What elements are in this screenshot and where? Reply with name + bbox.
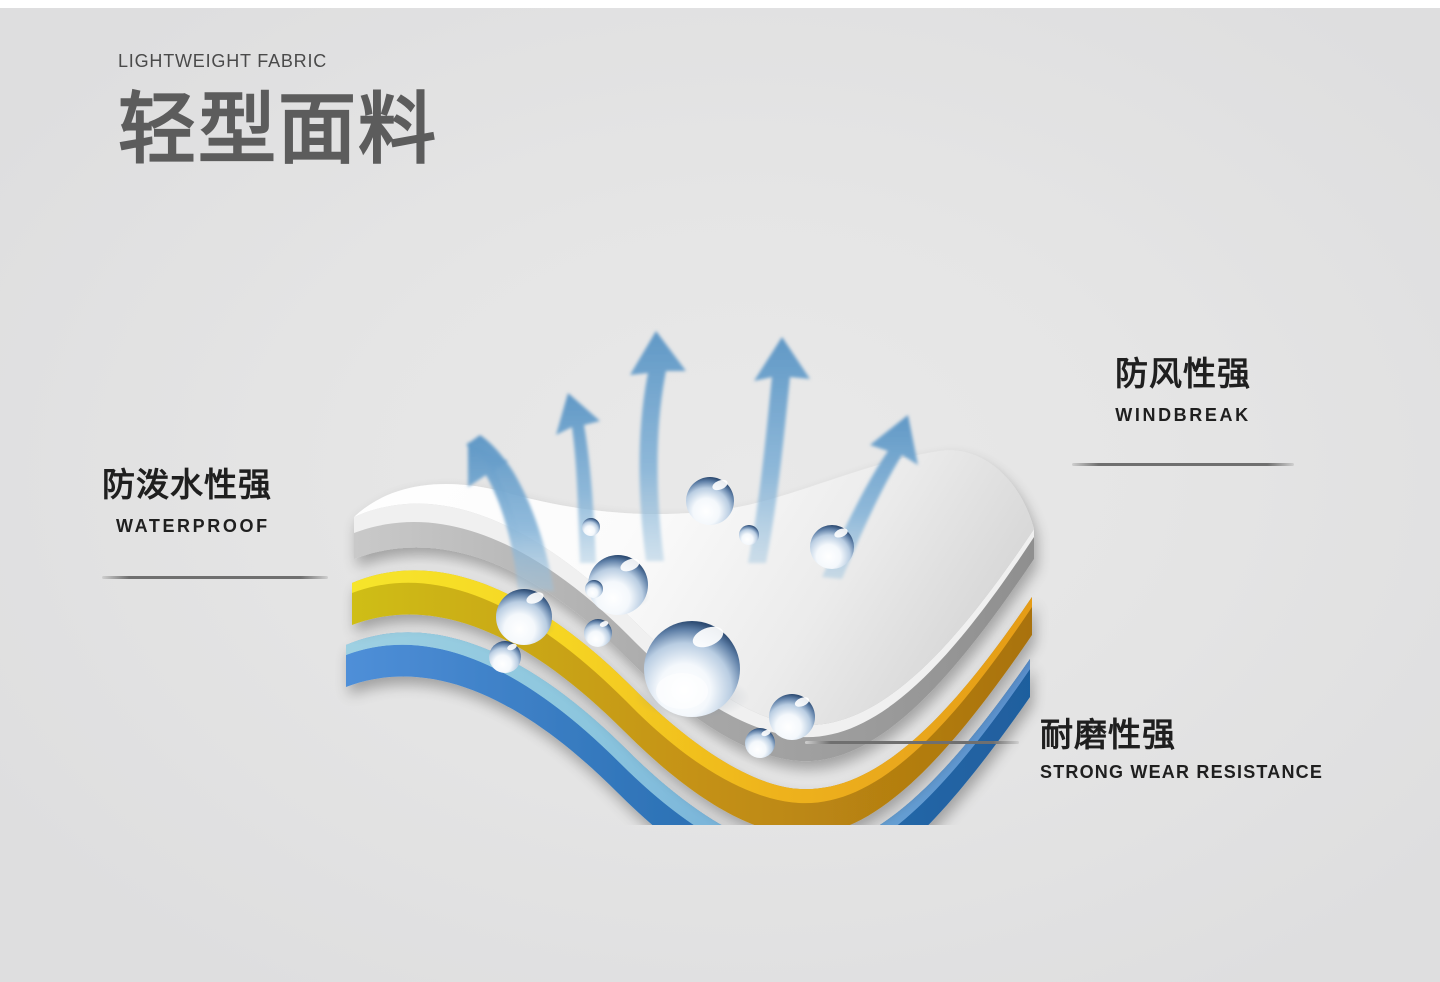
droplet-small-2: [584, 619, 612, 647]
droplet-medium-4: [810, 525, 854, 569]
callout-windbreak-rule: [1072, 463, 1294, 466]
droplet-medium-2: [496, 589, 552, 645]
eyebrow-text: LIGHTWEIGHT FABRIC: [118, 52, 438, 70]
callout-wear-rule: [805, 741, 1019, 744]
callout-wear-en: STRONG WEAR RESISTANCE: [1040, 762, 1323, 784]
droplet-tiny-2: [585, 580, 603, 598]
callout-waterproof-rule: [102, 576, 328, 579]
droplet-small-3: [745, 728, 775, 758]
callout-waterproof-cn: 防泼水性强: [102, 466, 328, 504]
page-title: 轻型面料: [118, 90, 438, 168]
droplet-large: [644, 621, 740, 717]
callout-waterproof-en: WATERPROOF: [116, 516, 328, 538]
callout-windbreak-cn: 防风性强: [1072, 355, 1294, 393]
callout-waterproof: 防泼水性强 WATERPROOF: [102, 466, 328, 579]
poster-root: LIGHTWEIGHT FABRIC 轻型面料: [0, 0, 1440, 982]
droplet-tiny-1: [582, 518, 600, 536]
callout-wear-cn: 耐磨性强: [1040, 716, 1323, 754]
droplet-small-1: [489, 641, 521, 673]
callout-wear-resistance: 耐磨性强 STRONG WEAR RESISTANCE: [805, 716, 1323, 784]
heading-block: LIGHTWEIGHT FABRIC 轻型面料: [118, 52, 438, 168]
droplet-medium-3: [686, 477, 734, 525]
callout-windbreak: 防风性强 WINDBREAK: [1072, 355, 1294, 466]
droplet-tiny-3: [739, 525, 759, 545]
callout-wear-text: 耐磨性强 STRONG WEAR RESISTANCE: [1040, 716, 1323, 784]
callout-windbreak-en: WINDBREAK: [1072, 405, 1294, 427]
